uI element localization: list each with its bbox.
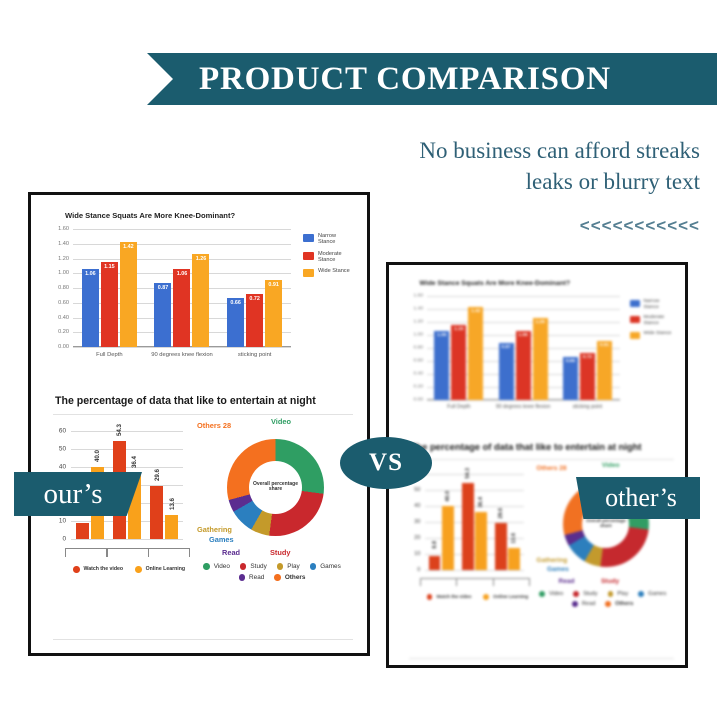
ribbon-ours: our’s	[14, 472, 142, 516]
legend-dot	[277, 563, 284, 570]
bar-value-label: 54.3	[116, 424, 123, 436]
x-axis-tick-mark	[493, 578, 494, 586]
bar	[429, 556, 441, 570]
squats-chart-title: Wide Stance Squats Are More Knee-Dominan…	[420, 280, 571, 287]
legend-label: Narrow Stance	[643, 299, 659, 310]
y-axis-tick: 1.40	[39, 241, 69, 247]
legend-dot	[539, 591, 545, 597]
bar: 0.66	[563, 357, 578, 400]
legend-item: Narrow Stance	[303, 233, 350, 246]
legend-item: Games	[638, 591, 666, 597]
legend-dot	[605, 601, 611, 607]
donut-center: Overall percentage share	[249, 461, 302, 514]
legend-dot	[135, 566, 142, 573]
legend-label: Play	[287, 563, 299, 570]
legend-dot	[73, 566, 80, 573]
y-axis-tick: 1.20	[397, 319, 424, 324]
top-chart-block: Wide Stance Squats Are More Knee-Dominan…	[393, 269, 681, 439]
gridline	[73, 347, 291, 348]
legend-item: Games	[310, 563, 341, 570]
y-axis-tick: 0.00	[397, 397, 424, 402]
y-axis-tick: 1.20	[39, 256, 69, 262]
legend-dot	[483, 594, 489, 600]
legend-dot	[239, 574, 246, 581]
bar-value-label: 0.72	[246, 296, 263, 302]
chevron-left-icon-row: <<<<<<<<<<<	[330, 216, 700, 236]
donut-annotation: Others 28	[197, 421, 231, 430]
squats-plot-area: 1.061.151.420.871.061.260.660.720.91	[73, 229, 291, 347]
gridline	[71, 539, 183, 540]
squats-chart: Wide Stance Squats Are More Knee-Dominan…	[393, 269, 681, 439]
legend-label: Others	[285, 574, 306, 581]
y-axis-tick: 50	[404, 487, 421, 493]
bar: 1.06	[173, 269, 190, 347]
bar	[165, 515, 178, 539]
legend-dot	[427, 594, 433, 600]
legend-label: Moderate Stance	[643, 315, 664, 326]
poster-canvas: PRODUCT COMPARISON No business can affor…	[0, 0, 717, 717]
bar: 0.66	[227, 298, 244, 347]
legend-label: Wide Stance	[643, 331, 671, 337]
bar: 0.72	[246, 294, 263, 347]
legend-label: Narrow Stance	[318, 233, 336, 246]
y-axis-tick: 40	[47, 464, 66, 471]
bar: 1.15	[451, 325, 466, 400]
legend-label: Watch the video	[436, 594, 471, 599]
bar	[442, 506, 454, 570]
squats-legend: Narrow StanceModerate StanceWide Stance	[630, 299, 671, 344]
ribbon-others-label: other’s	[605, 483, 677, 513]
bar-value-label: 40.0	[445, 491, 451, 502]
donut-annotation: Others 28	[536, 465, 566, 472]
entertain-section-title: The percentage of data that like to ente…	[55, 395, 316, 407]
gridline	[425, 506, 524, 507]
bar-value-label: 54.3	[465, 468, 471, 479]
bar-group: 0.660.720.91	[555, 296, 619, 400]
bar: 1.06	[82, 269, 99, 347]
y-axis-tick: 0.60	[397, 358, 424, 363]
legend-item: Watch the video	[427, 594, 472, 600]
legend-label: Games	[320, 563, 341, 570]
bar-value-label: 36.4	[478, 497, 484, 508]
legend-label: Video	[549, 591, 563, 597]
bar-value-label: 1.42	[468, 309, 483, 314]
bar-value-label: 0.91	[597, 343, 612, 348]
bar-value-label: 1.15	[101, 264, 118, 270]
entertain-chart: 60504030201008.840.054.336.429.613.6Watc…	[404, 465, 537, 607]
bar: 1.42	[120, 242, 137, 347]
y-axis-tick: 60	[47, 428, 66, 435]
bar	[150, 486, 163, 539]
x-axis-tick-mark	[456, 578, 457, 586]
legend-dot	[274, 574, 281, 581]
bar: 1.42	[468, 307, 483, 400]
y-axis-tick: 0	[404, 567, 421, 573]
ribbon-others: other’s	[576, 477, 700, 519]
vs-label: VS	[369, 449, 403, 477]
bar	[475, 512, 487, 570]
legend-dot	[310, 563, 317, 570]
x-axis-tick-mark	[420, 578, 421, 586]
bar-value-label: 0.91	[265, 282, 282, 288]
bar: 0.87	[499, 343, 514, 400]
x-axis-tick: 90 degrees knee flexion	[496, 404, 550, 410]
bar-value-label: 1.26	[192, 256, 209, 262]
squats-plot-area: 1.061.151.420.871.061.260.660.720.91	[427, 296, 620, 400]
bar-value-label: 0.87	[499, 345, 514, 350]
bar: 0.91	[597, 341, 612, 400]
legend-dot	[240, 563, 247, 570]
bar-value-label: 1.26	[533, 320, 548, 325]
bar: 1.06	[516, 331, 531, 400]
y-axis-tick: 1.00	[397, 332, 424, 337]
donut-center-label: Overall percentage share	[582, 517, 629, 532]
legend-item: Study	[573, 591, 597, 597]
y-axis-tick: 0.80	[39, 285, 69, 291]
donut-annotation: Gathering	[536, 557, 567, 564]
entertain-legend: Watch the videoOnline Learning	[73, 566, 197, 573]
y-axis-tick: 0.20	[39, 329, 69, 335]
page-title: PRODUCT COMPARISON	[199, 61, 611, 98]
y-axis-tick: 0.80	[397, 345, 424, 350]
bar-value-label: 1.06	[82, 271, 99, 277]
y-axis-tick: 1.40	[397, 306, 424, 311]
x-axis-tick: sticking point	[238, 352, 272, 358]
y-axis-tick: 30	[404, 519, 421, 525]
legend-row: VideoStudyPlayGames	[197, 563, 347, 570]
legend-label: Video	[214, 563, 230, 570]
bar-value-label: 1.06	[516, 333, 531, 338]
gridline	[71, 449, 183, 450]
bar-value-label: 36.4	[131, 456, 138, 468]
y-axis-tick: 1.60	[39, 226, 69, 232]
x-axis-tick: 90 degrees knee flexion	[151, 352, 213, 358]
y-axis-tick: 40	[404, 503, 421, 509]
donut-annotation: Gathering	[197, 525, 232, 534]
bar: 0.91	[265, 280, 282, 347]
gridline	[425, 490, 524, 491]
bar-value-label: 13.6	[511, 533, 517, 544]
donut-annotation: Study	[601, 578, 619, 585]
legend-dot	[608, 591, 614, 597]
panel-ours: Wide Stance Squats Are More Knee-Dominan…	[28, 192, 370, 656]
legend-dot	[203, 563, 210, 570]
x-axis-tick-mark	[529, 578, 530, 586]
y-axis-tick: 0.40	[397, 371, 424, 376]
share-donut-chart: Overall percentage shareVideoOthers 28Ga…	[197, 413, 347, 578]
divider-bottom	[409, 658, 675, 659]
top-chart-block: Wide Stance Squats Are More Knee-Dominan…	[35, 199, 363, 391]
donut-legend: VideoStudyPlayGamesReadOthers	[536, 591, 669, 610]
subtitle-line-1: No business can afford streaks	[330, 136, 700, 167]
bar-value-label: 13.6	[169, 498, 176, 510]
legend-item: Video	[203, 563, 230, 570]
legend-item: Read	[239, 574, 265, 581]
legend-item: Wide Stance	[303, 268, 350, 277]
bar	[462, 483, 474, 569]
legend-item: Online Learning	[135, 566, 185, 573]
y-axis-tick: 0.20	[397, 384, 424, 389]
y-axis-tick: 1.00	[39, 270, 69, 276]
divider-bottom	[53, 639, 353, 640]
y-axis-tick: 0.00	[39, 344, 69, 350]
legend-row: ReadOthers	[197, 574, 347, 581]
bar-value-label: 1.42	[120, 244, 137, 250]
legend-item: Watch the video	[73, 566, 123, 573]
ribbon-ours-label: our’s	[43, 478, 102, 511]
legend-item: Narrow Stance	[630, 299, 671, 310]
squats-chart-title: Wide Stance Squats Are More Knee-Dominan…	[65, 211, 235, 220]
legend-label: Study	[583, 591, 597, 597]
legend-label: Play	[617, 591, 628, 597]
bar-group: 1.061.151.42	[73, 229, 146, 347]
y-axis-tick: 1.60	[397, 293, 424, 298]
legend-dot	[638, 591, 644, 597]
bar-value-label: 29.6	[498, 508, 504, 519]
bar-value-label: 0.66	[227, 300, 244, 306]
donut-annotation: Games	[547, 566, 569, 573]
gridline	[427, 400, 620, 401]
legend-swatch	[630, 332, 640, 339]
legend-row: VideoStudyPlayGames	[536, 591, 669, 597]
bar	[508, 548, 520, 570]
y-axis-tick: 10	[47, 518, 66, 525]
bar: 0.87	[154, 283, 171, 347]
legend-label: Read	[249, 574, 264, 581]
gridline	[71, 431, 183, 432]
x-axis-tick-mark	[189, 548, 190, 557]
bar-value-label: 0.87	[154, 285, 171, 291]
legend-swatch	[303, 252, 314, 260]
bar: 1.26	[192, 254, 209, 347]
legend-label: Online Learning	[146, 566, 186, 572]
legend-item: Wide Stance	[630, 331, 671, 339]
bar-value-label: 40.0	[94, 450, 101, 462]
x-axis-tick: Full Depth	[96, 352, 122, 358]
legend-item: Play	[277, 563, 300, 570]
gridline	[425, 570, 524, 571]
x-axis-line	[65, 548, 189, 549]
panel-others-content: Wide Stance Squats Are More Knee-Dominan…	[393, 269, 681, 661]
y-axis-tick: 0.60	[39, 300, 69, 306]
subtitle: No business can afford streaks leaks or …	[330, 136, 700, 197]
gridline	[425, 474, 524, 475]
x-axis-tick-mark	[106, 548, 107, 557]
donut-annotation: Video	[602, 462, 620, 469]
bar-value-label: 0.72	[580, 355, 595, 360]
legend-row: ReadOthers	[536, 601, 669, 607]
legend-item: Video	[539, 591, 563, 597]
legend-swatch	[630, 316, 640, 323]
bar: 1.15	[101, 262, 118, 347]
squats-chart: Wide Stance Squats Are More Knee-Dominan…	[35, 199, 363, 391]
legend-label: Study	[250, 563, 266, 570]
y-axis-tick: 20	[404, 535, 421, 541]
donut-annotation: Read	[222, 548, 240, 557]
bar	[76, 523, 89, 539]
y-axis-tick: 0	[47, 536, 66, 543]
y-axis-tick: 50	[47, 446, 66, 453]
bar-group: 0.660.720.91	[218, 229, 291, 347]
bar: 1.06	[434, 331, 449, 400]
subtitle-line-2: leaks or blurry text	[330, 167, 700, 198]
bar-value-label: 1.06	[434, 333, 449, 338]
x-axis-tick: sticking point	[573, 404, 603, 410]
entertain-section-title: The percentage of data that like to ente…	[411, 442, 642, 452]
x-axis-tick-mark	[65, 548, 66, 557]
legend-item: Moderate Stance	[303, 251, 350, 264]
panel-ours-content: Wide Stance Squats Are More Knee-Dominan…	[35, 199, 363, 649]
legend-label: Watch the video	[84, 566, 124, 572]
legend-item: Moderate Stance	[630, 315, 671, 326]
bar-group: 0.871.061.26	[146, 229, 219, 347]
bar-value-label: 29.6	[154, 469, 161, 481]
bar: 1.26	[533, 318, 548, 400]
legend-label: Read	[582, 601, 596, 607]
x-axis-tick: Full Depth	[447, 404, 470, 410]
y-axis-tick: 10	[404, 551, 421, 557]
donut-annotation: Games	[209, 535, 234, 544]
legend-swatch	[303, 269, 314, 277]
legend-item: Play	[608, 591, 629, 597]
legend-item: Study	[240, 563, 267, 570]
legend-swatch	[303, 234, 314, 242]
y-axis-tick: 0.40	[39, 315, 69, 321]
legend-swatch	[630, 300, 640, 307]
legend-label: Games	[648, 591, 666, 597]
donut-annotation: Study	[270, 548, 291, 557]
x-axis-tick-mark	[148, 548, 149, 557]
legend-label: Online Learning	[493, 594, 528, 599]
donut-legend: VideoStudyPlayGamesReadOthers	[197, 563, 347, 585]
header-banner: PRODUCT COMPARISON	[147, 53, 717, 105]
legend-dot	[573, 591, 579, 597]
legend-label: Moderate Stance	[318, 251, 342, 264]
bar-group: 0.871.061.26	[491, 296, 555, 400]
legend-item: Online Learning	[483, 594, 528, 600]
legend-item: Others	[605, 601, 633, 607]
legend-item: Read	[572, 601, 595, 607]
donut-center-label: Overall percentage share	[249, 479, 302, 496]
bar-value-label: 8.8	[432, 541, 438, 549]
entertain-legend: Watch the videoOnline Learning	[427, 594, 541, 600]
legend-label: Wide Stance	[318, 268, 350, 274]
bar-value-label: 1.06	[173, 271, 190, 277]
x-axis-line	[420, 578, 530, 579]
legend-dot	[572, 601, 578, 607]
bar-value-label: 0.66	[563, 359, 578, 364]
squats-legend: Narrow StanceModerate StanceWide Stance	[303, 233, 350, 282]
bar	[495, 523, 507, 570]
gridline	[71, 467, 183, 468]
donut-annotation: Video	[271, 417, 291, 426]
bar-group: 1.061.151.42	[427, 296, 491, 400]
bar: 0.72	[580, 353, 595, 400]
vs-badge: VS	[340, 437, 432, 489]
legend-item: Others	[274, 574, 305, 581]
bar-value-label: 1.15	[451, 327, 466, 332]
donut-annotation: Read	[558, 578, 574, 585]
legend-label: Others	[615, 601, 633, 607]
